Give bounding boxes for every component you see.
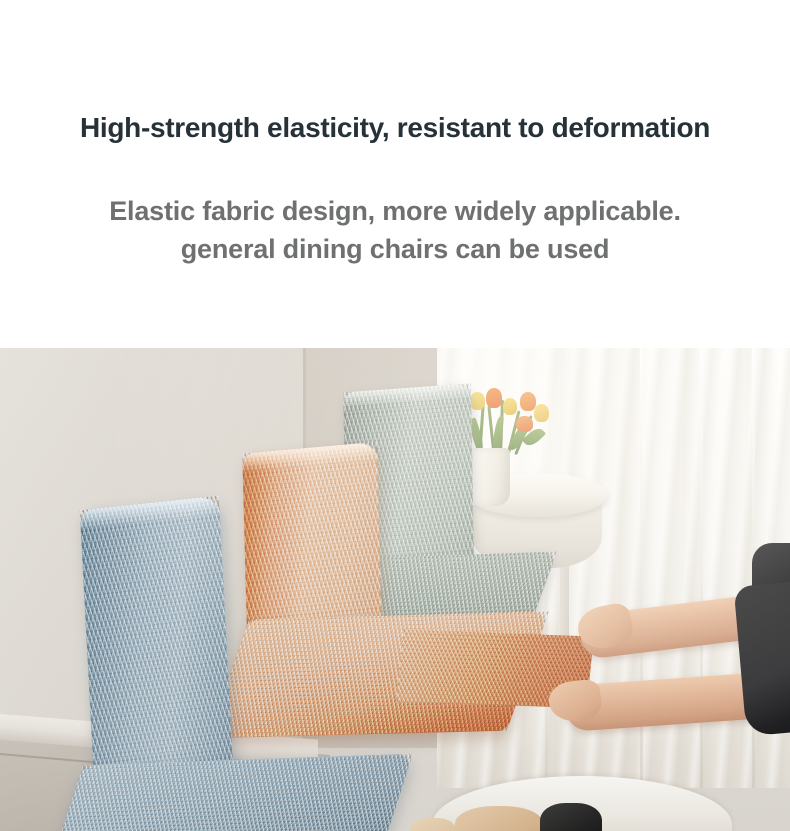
subtitle-line-1: Elastic fabric design, more widely appli… bbox=[109, 196, 681, 226]
product-detail-page: High-strength elasticity, resistant to d… bbox=[0, 0, 790, 831]
page-headline: High-strength elasticity, resistant to d… bbox=[0, 112, 790, 144]
foreground-object bbox=[410, 818, 456, 831]
blue-chair-seat bbox=[57, 754, 413, 831]
marketing-text-banner: High-strength elasticity, resistant to d… bbox=[0, 0, 790, 348]
page-subtitle: Elastic fabric design, more widely appli… bbox=[0, 192, 790, 269]
foreground-object bbox=[455, 806, 543, 831]
subtitle-line-2: general dining chairs can be used bbox=[0, 230, 790, 268]
foreground-object bbox=[540, 803, 602, 831]
knit-texture bbox=[57, 754, 413, 831]
product-lifestyle-photo: Smile bbox=[0, 348, 790, 831]
